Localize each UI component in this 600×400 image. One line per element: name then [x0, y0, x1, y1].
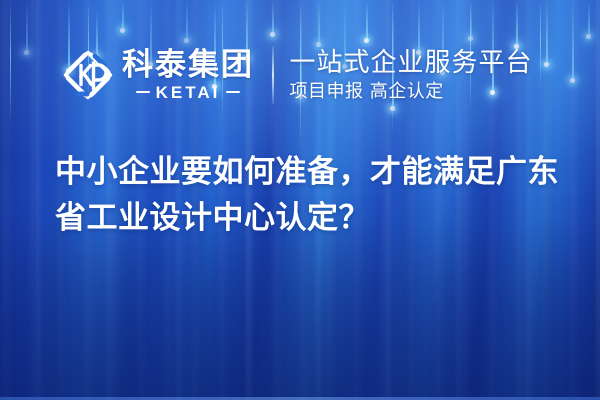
brand-text: 科泰集团 KETAI — [122, 50, 254, 101]
dash-right-icon — [226, 91, 240, 94]
headline-text: 中小企业要如何准备，才能满足广东省工业设计中心认定？ — [55, 150, 560, 242]
banner-header: 科泰集团 KETAI 一站式企业服务平台 项目申报 高企认定 — [0, 40, 600, 110]
brand-name-en-row: KETAI — [136, 84, 241, 101]
tagline-block: 一站式企业服务平台 项目申报 高企认定 — [290, 49, 533, 102]
promo-banner: 科泰集团 KETAI 一站式企业服务平台 项目申报 高企认定 中小企业要如何准备… — [0, 0, 600, 400]
brand-name-en: KETAI — [156, 84, 221, 101]
tagline-sub: 项目申报 高企认定 — [290, 82, 533, 102]
dash-left-icon — [136, 91, 150, 94]
brand-lockup: 科泰集团 KETAI — [62, 49, 254, 101]
header-divider — [272, 46, 274, 104]
brand-name-cn: 科泰集团 — [122, 50, 254, 81]
ketai-diamond-logo-icon — [62, 49, 114, 101]
tagline-main: 一站式企业服务平台 — [290, 49, 533, 77]
